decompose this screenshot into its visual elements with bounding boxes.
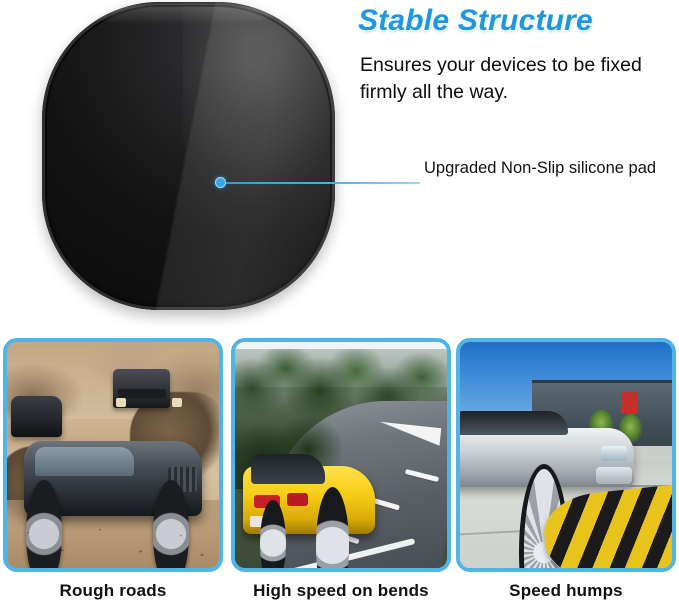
- panel-caption: High speed on bends: [231, 581, 451, 601]
- scenario-panel-speed-humps: Speed humps: [456, 338, 676, 601]
- panel-frame: [3, 338, 223, 572]
- gloss-highlight: [42, 2, 335, 310]
- headlight: [601, 446, 627, 461]
- suv-distant: [113, 369, 170, 407]
- page-title: Stable Structure: [358, 4, 593, 38]
- car-wheel-rear: [260, 500, 285, 572]
- suv-left-dark: [11, 396, 62, 437]
- panel-frame: [231, 338, 451, 572]
- scene-high-speed-bends: [235, 342, 447, 568]
- scenario-panel-rough-roads: Rough roads: [3, 338, 223, 601]
- front-bumper: [596, 467, 632, 485]
- subtitle-text: Ensures your devices to be fixed firmly …: [360, 52, 670, 106]
- gloss-soft-highlight: [183, 2, 335, 310]
- building-sign: [621, 392, 638, 415]
- panel-caption: Speed humps: [456, 581, 676, 601]
- scene-rough-roads: [7, 342, 219, 568]
- panel-frame: [456, 338, 676, 572]
- scenario-panels: Rough roads: [0, 338, 679, 606]
- scenario-panel-high-speed-bends: High speed on bends: [231, 338, 451, 601]
- product-feature-image: Stable Structure Ensures your devices to…: [0, 0, 679, 606]
- callout-leader-line: [222, 182, 420, 184]
- scene-speed-humps: [460, 342, 672, 568]
- product-image-stage: [0, 0, 350, 330]
- suv-windows: [35, 447, 135, 475]
- car-rear-window: [251, 454, 325, 484]
- taillight-right: [287, 493, 308, 505]
- panel-caption: Rough roads: [3, 581, 223, 601]
- product-silicone-pad-image: [42, 2, 335, 310]
- callout-anchor-dot: [215, 177, 226, 188]
- desert-pebbles: [7, 509, 219, 568]
- callout-label: Upgraded Non-Slip silicone pad: [424, 152, 674, 185]
- rim-shine: [83, 4, 276, 26]
- sedan-windows: [456, 411, 568, 435]
